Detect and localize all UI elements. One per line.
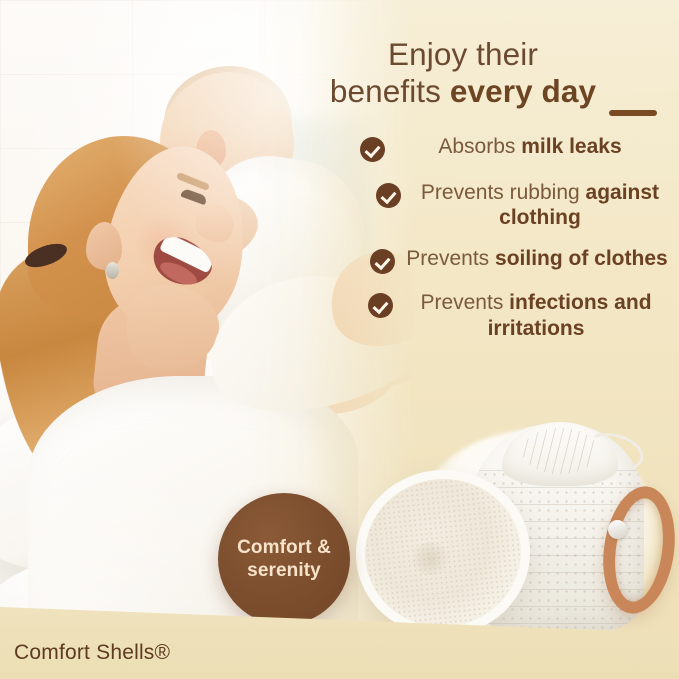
headline-underline-accent <box>609 110 657 116</box>
mother-ear <box>86 222 122 270</box>
benefit-text-regular: Prevents <box>420 291 509 314</box>
headline: Enjoy their benefits every day <box>253 36 673 109</box>
badge-line-2: serenity <box>237 559 331 582</box>
benefits-list: Absorbs milk leaks Prevents rubbing agai… <box>352 134 679 359</box>
benefit-item-prevents-soiling: Prevents soiling of clothes <box>352 246 679 274</box>
benefit-text: Absorbs milk leaks <box>385 134 679 159</box>
product-group <box>352 412 679 652</box>
benefit-text-bold: infections and irritations <box>488 291 652 339</box>
benefit-text: Prevents soiling of clothes <box>395 246 679 271</box>
benefit-text-regular: Absorbs <box>438 135 521 158</box>
benefit-item-prevents-rubbing: Prevents rubbing against clothing <box>352 180 679 230</box>
strap-snap-button <box>608 520 627 539</box>
check-circle-icon <box>370 249 395 274</box>
comfort-serenity-badge: Comfort & serenity <box>218 493 350 625</box>
benefit-text-bold: milk leaks <box>521 135 621 158</box>
benefit-text: Prevents infections and irritations <box>393 290 679 340</box>
product-benefits-image: Enjoy their benefits every day Absorbs m… <box>0 0 679 679</box>
headline-line-2: benefits every day <box>253 73 673 110</box>
brand-name: Comfort Shells® <box>14 641 170 665</box>
benefit-text: Prevents rubbing against clothing <box>401 180 679 230</box>
benefit-item-absorbs-milk-leaks: Absorbs milk leaks <box>352 134 679 162</box>
check-circle-icon <box>360 137 385 162</box>
headline-line-1: Enjoy their <box>388 36 538 72</box>
check-circle-icon <box>368 293 393 318</box>
benefit-text-bold: soiling of clothes <box>495 247 668 270</box>
benefit-item-prevents-infections: Prevents infections and irritations <box>352 290 679 340</box>
badge-line-1: Comfort & <box>237 536 331 559</box>
benefit-text-regular: Prevents <box>406 247 495 270</box>
headline-line-2-regular: benefits <box>330 73 450 109</box>
benefit-text-regular: Prevents rubbing <box>421 181 586 204</box>
check-circle-icon <box>376 183 401 208</box>
headline-line-2-bold: every day <box>450 73 596 109</box>
earring <box>106 262 119 279</box>
badge-text: Comfort & serenity <box>237 536 331 582</box>
